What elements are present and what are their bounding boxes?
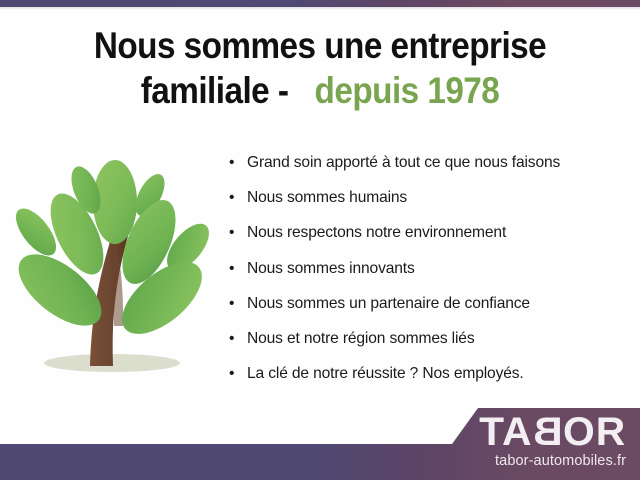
headline-line-2: familiale - depuis 1978 bbox=[32, 71, 608, 112]
benefits-list: •Grand soin apporté à tout ce que nous f… bbox=[226, 152, 630, 398]
list-item-label: Grand soin apporté à tout ce que nous fa… bbox=[247, 154, 560, 171]
bullet-dot-icon: • bbox=[229, 258, 234, 279]
top-accent-strip-shadow bbox=[0, 7, 640, 10]
list-item: •Grand soin apporté à tout ce que nous f… bbox=[226, 152, 630, 173]
list-item-label: Nous sommes innovants bbox=[247, 260, 415, 277]
list-item-label: Nous et notre région sommes liés bbox=[247, 330, 474, 347]
footer-banner: TABOR tabor-automobiles.fr bbox=[0, 406, 640, 480]
bullet-dot-icon: • bbox=[229, 293, 234, 314]
slide-canvas: Nous sommes une entreprise familiale - d… bbox=[0, 0, 640, 480]
list-item: •Nous sommes innovants bbox=[226, 258, 630, 279]
bullet-dot-icon: • bbox=[229, 187, 234, 208]
bullet-dot-icon: • bbox=[229, 363, 234, 384]
headline-line-2-prefix: familiale - bbox=[141, 70, 289, 111]
top-accent-strip bbox=[0, 0, 640, 7]
tree-illustration bbox=[10, 150, 220, 390]
list-item: •Nous sommes un partenaire de confiance bbox=[226, 293, 630, 314]
list-item: •Nous respectons notre environnement bbox=[226, 222, 630, 243]
list-item-label: Nous respectons notre environnement bbox=[247, 224, 506, 241]
list-item: •La clé de notre réussite ? Nos employés… bbox=[226, 363, 630, 384]
page-title: Nous sommes une entreprise familiale - d… bbox=[32, 26, 608, 111]
list-item-label: Nous sommes un partenaire de confiance bbox=[247, 295, 530, 312]
footer-banner-shape bbox=[0, 408, 640, 480]
list-item-label: Nous sommes humains bbox=[247, 189, 407, 206]
headline-line-1: Nous sommes une entreprise bbox=[32, 26, 608, 67]
list-item: •Nous sommes humains bbox=[226, 187, 630, 208]
list-item-label: La clé de notre réussite ? Nos employés. bbox=[247, 365, 524, 382]
list-item: •Nous et notre région sommes liés bbox=[226, 328, 630, 349]
headline-accent-since-year: depuis 1978 bbox=[315, 70, 500, 111]
bullet-dot-icon: • bbox=[229, 328, 234, 349]
bullet-dot-icon: • bbox=[229, 152, 234, 173]
bullet-dot-icon: • bbox=[229, 222, 234, 243]
